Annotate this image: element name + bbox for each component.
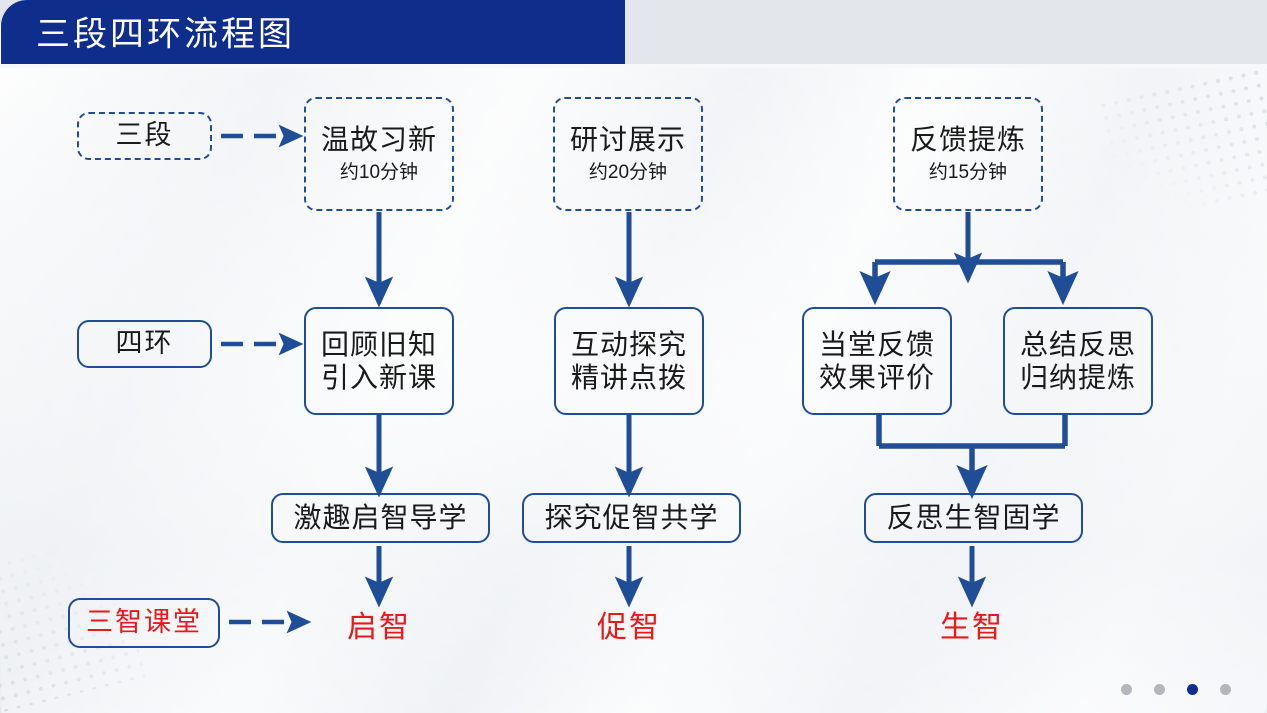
link-node-4-line1: 总结反思 [1020,328,1136,361]
pagination-dot-3[interactable] [1187,684,1198,695]
outcome-node-2[interactable]: 探究促智共学 [522,493,741,543]
pagination-dot-4[interactable] [1220,684,1231,695]
stage-node-3-title: 反馈提炼 [910,123,1026,156]
zhi-label-3-text: 生智 [940,602,1004,646]
stage-node-1-duration: 约10分钟 [340,162,418,184]
link-node-3[interactable]: 当堂反馈 效果评价 [802,307,952,415]
link-node-2[interactable]: 互动探究 精讲点拨 [554,307,704,415]
tag-sihuan-label: 四环 [116,328,174,360]
tag-sanduan[interactable]: 三段 [77,112,212,160]
merge-connector-to-outcome3 [879,414,1065,482]
slide-canvas: 三段四环流程图 [0,0,1267,713]
link-node-4[interactable]: 总结反思 归纳提炼 [1003,307,1153,415]
link-node-3-line1: 当堂反馈 [819,328,935,361]
zhi-label-2-text: 促智 [597,602,661,646]
link-node-1-line2: 引入新课 [321,361,437,394]
pagination-dot-2[interactable] [1154,684,1165,695]
link-node-3-line2: 效果评价 [819,361,935,394]
outcome-node-1[interactable]: 激趣启智导学 [271,493,490,543]
outcome-node-2-label: 探究促智共学 [544,501,718,534]
stage-node-1[interactable]: 温故习新 约10分钟 [304,97,454,211]
tag-sanzhi-ketang[interactable]: 三智课堂 [68,598,220,648]
tag-sihuan[interactable]: 四环 [77,320,212,368]
zhi-label-3: 生智 [912,602,1032,646]
link-node-1-line1: 回顾旧知 [321,328,437,361]
stage-node-2-title: 研讨展示 [570,123,686,156]
stage-node-1-title: 温故习新 [321,123,437,156]
stage-node-2[interactable]: 研讨展示 约20分钟 [553,97,703,211]
stage-node-3[interactable]: 反馈提炼 约15分钟 [893,97,1043,211]
stage-node-3-duration: 约15分钟 [929,162,1007,184]
zhi-label-2: 促智 [569,602,689,646]
outcome-node-1-label: 激趣启智导学 [293,501,467,534]
zhi-label-1-text: 启智 [347,602,411,646]
tag-sanduan-label: 三段 [116,120,174,152]
outcome-node-3-label: 反思生智固学 [886,501,1060,534]
tag-sanzhi-ketang-label: 三智课堂 [86,607,202,639]
pagination-dots[interactable] [1121,684,1231,695]
outcome-node-3[interactable]: 反思生智固学 [864,493,1083,543]
link-node-1[interactable]: 回顾旧知 引入新课 [304,307,454,415]
link-node-4-line2: 归纳提炼 [1020,361,1136,394]
link-node-2-line2: 精讲点拨 [571,361,687,394]
pagination-dot-1[interactable] [1121,684,1132,695]
stage-node-2-duration: 约20分钟 [589,162,667,184]
zhi-label-1: 启智 [319,602,439,646]
link-node-2-line1: 互动探究 [571,328,687,361]
